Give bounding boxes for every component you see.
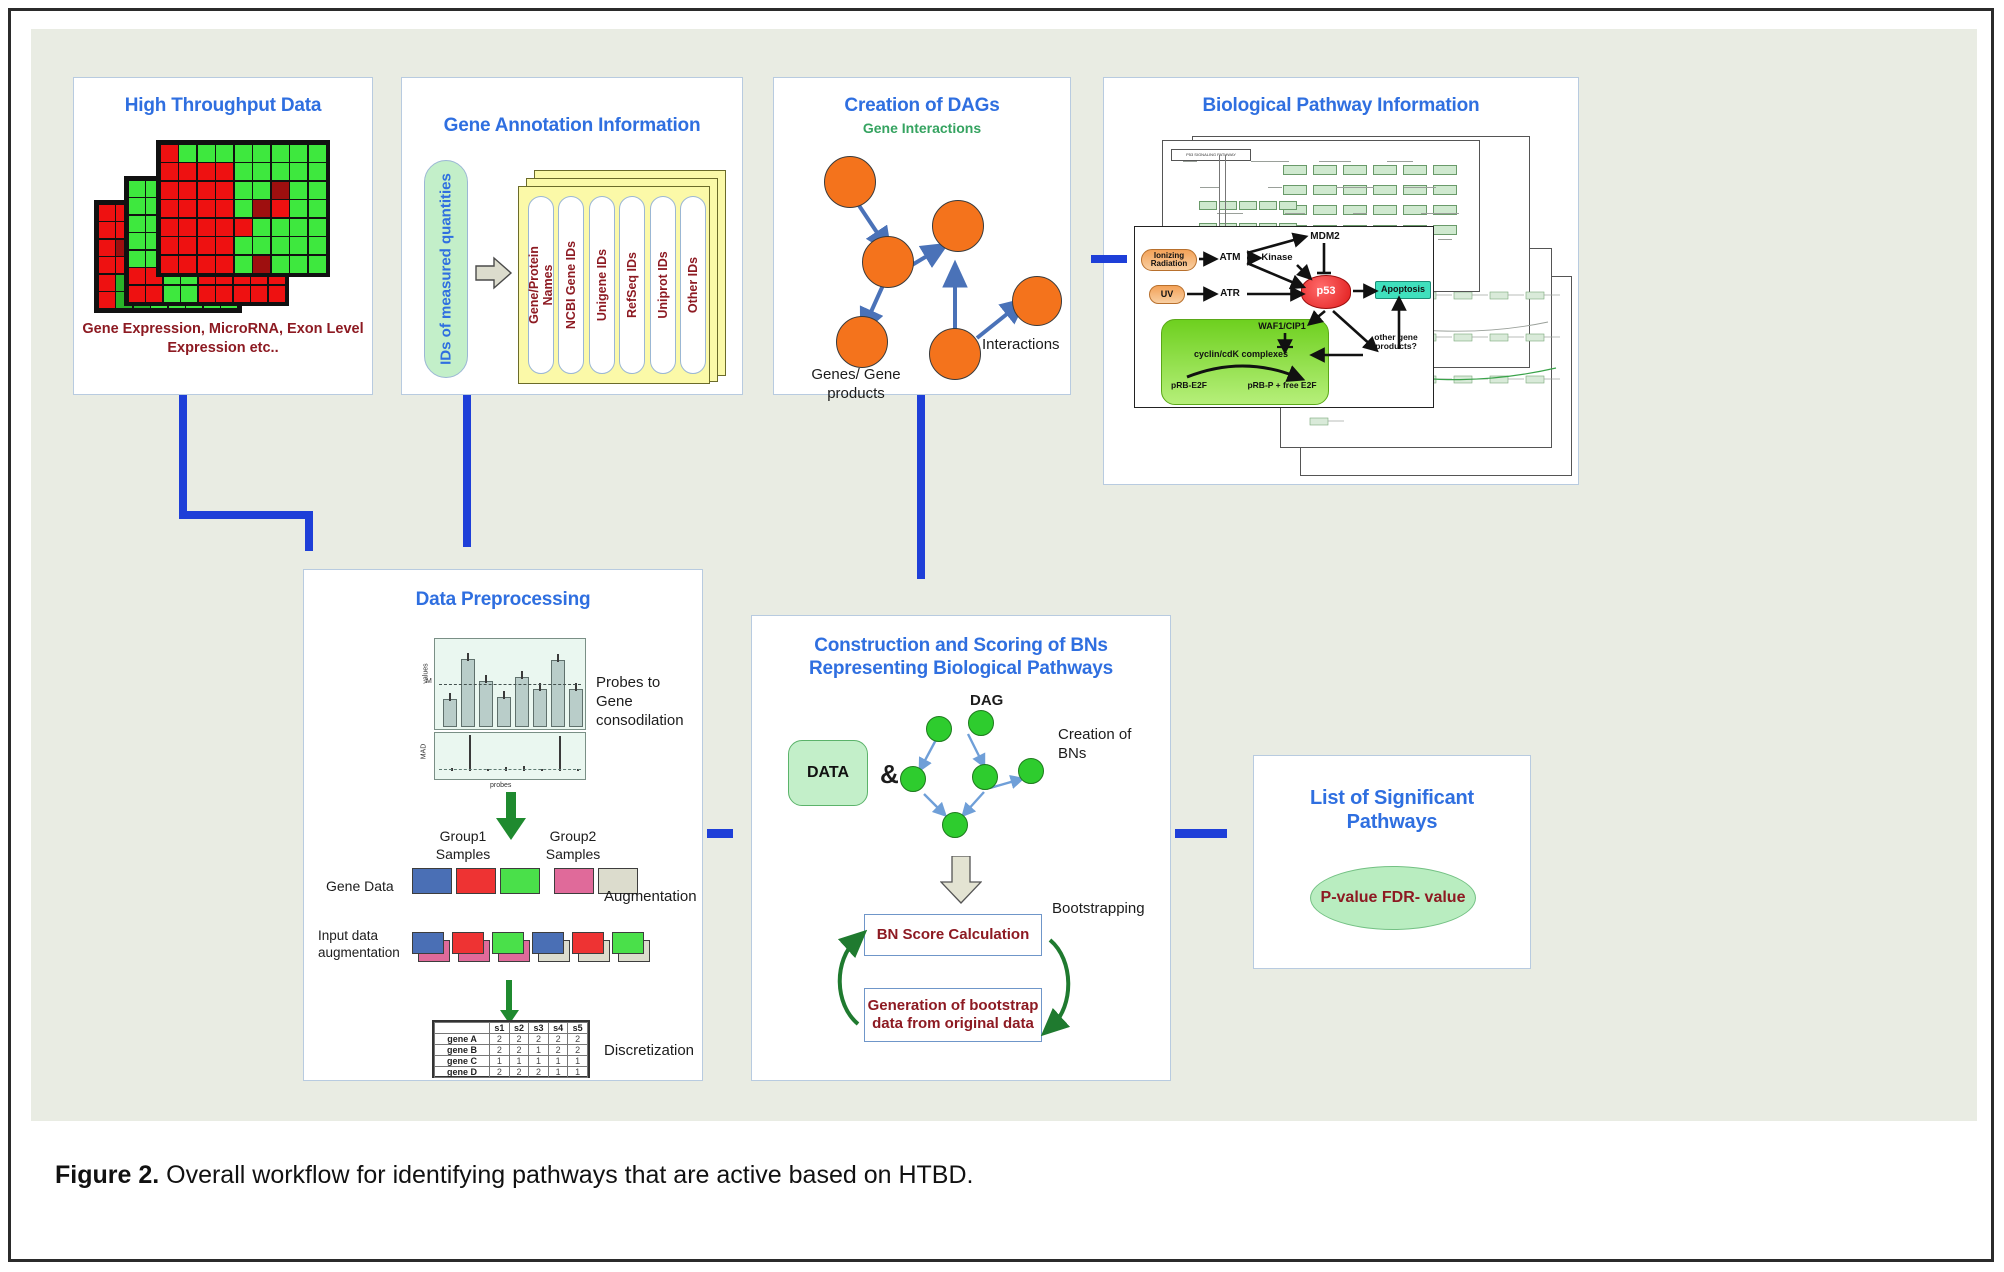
discretization-cell: 1 [568,1056,588,1067]
figure-page: High Throughput Data Gene Expression, Mi… [0,0,2004,1272]
dag-node-2 [862,236,914,288]
discretization-col-header [435,1023,490,1034]
group1-label: Group1 Samples [424,828,502,863]
heatmap-cell [161,182,178,199]
kegg-connector-line [1183,161,1197,162]
panel-bn-construction[interactable]: Construction and Scoring of BNs Represen… [751,615,1171,1081]
kegg-header-box: P53 SIGNALING PATHWAY [1171,149,1251,161]
values-mean-tick: M [426,678,432,685]
kegg-connector-line [1336,187,1374,188]
discretization-col-header: s5 [568,1023,588,1034]
kegg-node-box [1433,165,1457,175]
values-bar [443,699,457,727]
heatmap-cell [99,205,115,221]
heatmap-cell [216,256,233,273]
ids-measured-quantities-label: IDs of measured quantities [438,173,455,365]
discretization-cell: 2 [509,1034,529,1045]
bn-node-5 [1018,758,1044,784]
discretization-step-label: Discretization [604,1042,694,1061]
discretization-cell: 2 [548,1045,568,1056]
discretization-cell: 2 [529,1034,549,1045]
discretization-cell: 2 [568,1034,588,1045]
panel-title-pathway-info: Biological Pathway Information [1104,94,1578,117]
heatmap-layer [156,140,330,277]
heatmap-cell [272,163,289,180]
panel-significant-pathways[interactable]: List of Significant Pathways P-value FDR… [1253,755,1531,969]
discretization-header-row: s1s2s3s4s5 [435,1023,588,1034]
discretization-cell: 2 [509,1067,529,1078]
kegg-connector-line [1387,161,1413,162]
heatmap-cell [216,182,233,199]
figure-label: Figure 2. [55,1161,159,1189]
bn-node-4 [972,764,998,790]
gene-data-swatch-3 [500,868,540,894]
kegg-node-box [1313,165,1337,175]
kegg-connector-line [1251,161,1289,162]
discretization-body: gene A22222gene B22122gene C11111gene D2… [435,1034,588,1078]
workflow-canvas: High Throughput Data Gene Expression, Mi… [31,29,1977,1121]
heatmap-cell [216,286,232,302]
discretization-gene-name: gene B [435,1045,490,1056]
heatmap-cell [269,286,285,302]
panel-data-preprocessing[interactable]: Data Preprocessing values M MAD probes P… [303,569,703,1081]
values-error-spike [557,654,559,662]
table-row: gene C11111 [435,1056,588,1067]
table-row: gene A22222 [435,1034,588,1045]
heatmap-cell [146,286,162,302]
values-bar [461,659,475,727]
annotation-id-pill-label: Other IDs [686,257,700,313]
heatmap-cell [290,237,307,254]
heatmap-cell [272,145,289,162]
gene-data-swatch-4 [554,868,594,894]
probes-axis-label: probes [490,782,511,789]
discretization-cell: 1 [490,1056,510,1067]
kegg-node-box [1283,185,1307,195]
creation-of-bns-label: Creation of BNs [1058,726,1144,764]
discretization-col-header: s4 [548,1023,568,1034]
figure-caption-text: Overall workflow for identifying pathway… [159,1161,973,1189]
heatmap-cell [290,145,307,162]
discretization-table: s1s2s3s4s5 gene A22222gene B22122gene C1… [432,1020,590,1078]
mad-bar [559,736,561,771]
values-bar [497,697,511,727]
mad-bar [469,735,471,771]
panel-title-gene-annotation: Gene Annotation Information [402,114,742,137]
kegg-node-box [1343,165,1367,175]
heatmap-cell [129,181,145,197]
discretization-cell: 2 [509,1045,529,1056]
discretization-cell: 1 [509,1056,529,1067]
dag-node-5 [929,328,981,380]
panel-title-high-throughput: High Throughput Data [74,94,372,117]
bootstrap-cycle-arrows-icon [828,902,1078,1058]
kegg-node-box [1239,201,1257,210]
annotation-id-pill-label: NCBI Gene IDs [564,241,578,329]
heatmap-cell [290,163,307,180]
arrow-htd-horizontal [179,511,309,519]
panel-high-throughput-data[interactable]: High Throughput Data Gene Expression, Mi… [73,77,373,395]
heatmap-cell [99,275,115,291]
kegg-connector-line [1421,213,1459,214]
group2-label: Group2 Samples [534,828,612,863]
heatmap-cell [253,200,270,217]
augmented-swatch-front [532,932,564,954]
values-error-spike [485,675,487,683]
values-bar [569,689,583,727]
discretization-col-header: s1 [490,1023,510,1034]
augmented-swatch-front [452,932,484,954]
heatmap-cell [199,286,215,302]
values-bar [479,681,493,727]
kegg-node-box [1199,201,1217,210]
heatmap-cell [272,237,289,254]
kegg-node-box [1313,185,1337,195]
kegg-connector-line [1268,187,1282,188]
augmented-swatch-front [572,932,604,954]
dag-node-3 [932,200,984,252]
heatmap-cell [309,145,326,162]
panel-gene-annotation[interactable]: Gene Annotation Information IDs of measu… [401,77,743,395]
heatmap-cell [253,163,270,180]
heatmap-cell [234,286,250,302]
annotation-id-pill: Unigene IDs [589,196,615,374]
heatmap-cell [129,216,145,232]
heatmap-cell [198,145,215,162]
panel-creation-of-dags[interactable]: Creation of DAGs Gene Interactions [773,77,1071,395]
heatmap-cell [198,237,215,254]
heatmap-cell [161,200,178,217]
dag-label-interactions: Interactions [982,336,1060,355]
arrow-dag-to-bn [917,395,925,579]
discretization-table-grid: s1s2s3s4s5 gene A22222gene B22122gene C1… [434,1022,588,1078]
heatmap-cell [198,182,215,199]
augmented-swatch-front [612,932,644,954]
discretization-cell: 2 [568,1045,588,1056]
discretization-gene-name: gene A [435,1034,490,1045]
annotation-flow-arrow-icon [474,253,514,293]
pvalue-fdr-oval: P-value FDR- value [1310,866,1476,930]
heatmap-cell [309,163,326,180]
heatmap-cell [161,219,178,236]
heatmap-cell [309,237,326,254]
heatmap-cell [129,286,145,302]
heatmap-cell [235,200,252,217]
heatmap-cell [179,182,196,199]
gene-data-swatch-2 [456,868,496,894]
heatmap-cell [235,237,252,254]
table-row: gene D22211 [435,1067,588,1078]
heatmap-cell [198,163,215,180]
discretization-cell: 1 [548,1056,568,1067]
heatmap-cell [290,256,307,273]
gene-data-label: Gene Data [326,878,394,896]
heatmap-cell [216,219,233,236]
heatmap-cell [290,219,307,236]
arrow-bn-to-list [1175,829,1227,838]
heatmap-cell [235,163,252,180]
kegg-connector-line [1319,161,1351,162]
heatmap-cell [253,219,270,236]
discretization-cell: 1 [529,1045,549,1056]
panel-title-data-preprocessing: Data Preprocessing [304,588,702,611]
heatmap-cell [309,200,326,217]
kegg-connector-line [1404,187,1436,188]
annotation-id-pill: Other IDs [680,196,706,374]
mad-axis-label: MAD [420,744,427,760]
gene-data-swatch-1 [412,868,452,894]
annotation-id-pill-label: Gene/ProteinNames [527,246,555,324]
heatmap-cell [290,182,307,199]
heatmap-cell [129,268,145,284]
probes-consolidation-label: Probes to Gene consodilation [596,674,688,730]
annotation-id-pill: Uniprot IDs [650,196,676,374]
arrow-htd-vertical [179,395,187,519]
heatmap-cell [235,182,252,199]
kegg-node-box [1433,185,1457,195]
kegg-node-box [1279,201,1297,210]
heatmap-cell [161,256,178,273]
kegg-node-box [1373,205,1397,215]
mad-baseline [439,769,581,770]
values-error-spike [467,653,469,661]
bn-node-3 [900,766,926,792]
dag-label-genes: Genes/ Gene products [798,366,914,404]
heatmap-cell [216,163,233,180]
heatmap-cell [272,200,289,217]
annotation-id-pill: RefSeq IDs [619,196,645,374]
heatmap-cell [216,200,233,217]
panel-biological-pathway-information[interactable]: Biological Pathway Information P53 SIGNA… [1103,77,1579,485]
heatmap-cell [235,219,252,236]
p53-edges-graphic [1135,227,1434,408]
bn-node-1 [926,716,952,742]
values-error-spike [449,693,451,701]
values-error-spike [503,691,505,699]
heatmap-cell [235,256,252,273]
high-throughput-caption: Gene Expression, MicroRNA, Exon Level Ex… [82,320,364,358]
heatmap-cell [309,182,326,199]
kegg-connector-line [1353,213,1367,214]
heatmap-cell [272,256,289,273]
kegg-node-box [1373,185,1397,195]
heatmap-cell [129,233,145,249]
arrow-preprocessing-to-bn [707,829,733,838]
heatmap-cell [309,219,326,236]
heatmap-cell [99,222,115,238]
heatmap-cell [179,237,196,254]
discretization-gene-name: gene C [435,1056,490,1067]
heatmap-cell [179,145,196,162]
ids-measured-quantities-pill: IDs of measured quantities [424,160,468,378]
heatmap-cell [179,219,196,236]
heatmap-cell [99,240,115,256]
heatmap-cell [181,286,197,302]
kegg-connector-line [1438,239,1452,240]
annotation-id-pill: Gene/ProteinNames [528,196,554,374]
augmentation-step-label: Augmentation [604,888,697,907]
heatmap-cell [272,182,289,199]
values-bar-chart [434,638,586,730]
heatmap-cell [99,292,115,308]
heatmap-cell [99,257,115,273]
heatmap-cell [161,163,178,180]
augmentation-down-arrow-stem [506,980,512,1014]
heatmap-cell [179,163,196,180]
discretization-cell: 1 [568,1067,588,1078]
heatmap-cell [253,256,270,273]
discretization-gene-name: gene D [435,1067,490,1078]
bn-node-2 [968,710,994,736]
heatmap-cell [253,237,270,254]
p53-signaling-diagram: IonizingRadiation UV ATM ATR Kinase MDM2… [1134,226,1434,408]
heatmap-cell [164,286,180,302]
heatmap-cell [309,256,326,273]
mad-bar-chart [434,732,586,780]
heatmap-cell [161,237,178,254]
bn-node-6 [942,812,968,838]
dag-node-4 [836,316,888,368]
augmented-swatch-front [412,932,444,954]
kegg-node-box [1433,225,1457,235]
kegg-node-box [1219,201,1237,210]
values-mean-line [439,684,581,685]
kegg-connector-line [1285,213,1305,214]
annotation-id-pill-label: Unigene IDs [595,249,609,321]
annotation-id-pill: NCBI Gene IDs [558,196,584,374]
discretization-cell: 2 [529,1067,549,1078]
discretization-cell: 1 [548,1067,568,1078]
heatmap-cell [179,200,196,217]
heatmap-cell [198,256,215,273]
heatmap-cell [216,145,233,162]
discretization-cell: 2 [490,1034,510,1045]
heatmap-cell [161,145,178,162]
arrow-pathway-to-dag [1091,255,1127,263]
discretization-col-header: s3 [529,1023,549,1034]
heatmap-cell [290,200,307,217]
dag-node-1 [824,156,876,208]
kegg-node-box [1259,201,1277,210]
heatmap-cell [129,198,145,214]
heatmap-cell [179,256,196,273]
values-bar [533,689,547,727]
discretization-cell: 1 [529,1056,549,1067]
heatmap-cell [198,200,215,217]
heatmap-cell [253,182,270,199]
discretization-cell: 2 [548,1034,568,1045]
heatmap-cell [216,237,233,254]
values-error-spike [521,671,523,679]
heatmap-cell [235,145,252,162]
kegg-node-box [1403,165,1427,175]
kegg-connector-line [1217,213,1243,214]
kegg-connector-line [1200,187,1220,188]
arrow-htd-down [305,511,313,551]
bn-down-arrow-icon [940,856,982,904]
discretization-cell: 2 [490,1067,510,1078]
kegg-node-box [1373,165,1397,175]
discretization-cell: 2 [490,1045,510,1056]
kegg-node-box [1313,205,1337,215]
table-row: gene B22122 [435,1045,588,1056]
panel-title-significant-pathways: List of Significant Pathways [1270,786,1514,835]
heatmap-cell [198,219,215,236]
figure-caption: Figure 2. Overall workflow for identifyi… [55,1161,1955,1190]
annotation-id-pill-label: RefSeq IDs [625,252,639,318]
augmented-swatch-front [492,932,524,954]
heatmap-cell [251,286,267,302]
annotation-id-pill-label: Uniprot IDs [656,251,670,318]
kegg-node-box [1283,165,1307,175]
heatmap-cell [253,145,270,162]
arrow-annotation-vertical [463,395,471,547]
dag-node-6 [1012,276,1062,326]
figure-outer-frame: High Throughput Data Gene Expression, Mi… [8,8,1994,1262]
discretization-col-header: s2 [509,1023,529,1034]
heatmap-cell [272,219,289,236]
input-data-augmentation-label: Input data augmentation [318,928,402,962]
values-bar [551,660,565,727]
heatmap-cell [129,251,145,267]
